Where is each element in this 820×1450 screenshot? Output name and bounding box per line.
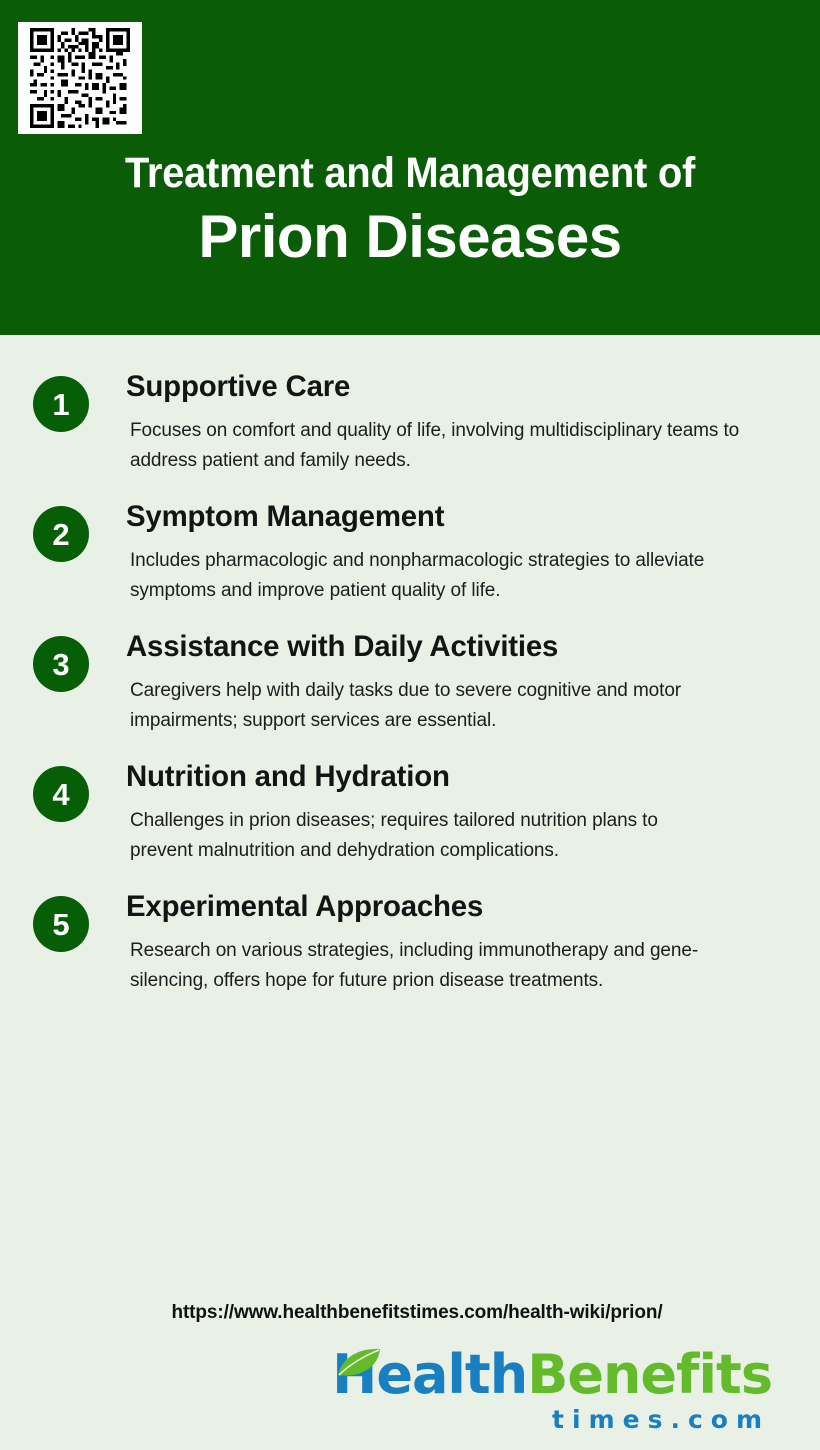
footer: https://www.healthbenefitstimes.com/heal… (0, 1302, 820, 1450)
list-item: 4 Nutrition and Hydration Challenges in … (0, 758, 820, 866)
step-number-badge: 5 (33, 896, 89, 952)
list-item-title: Supportive Care (126, 368, 767, 406)
list-item: 1 Supportive Care Focuses on comfort and… (0, 368, 820, 476)
logo-wordmark: HealthBenefits (332, 1346, 772, 1404)
list-item-body: Symptom Management Includes pharmacologi… (126, 498, 780, 606)
list-item-title: Assistance with Daily Activities (126, 628, 767, 666)
list-item-description: Focuses on comfort and quality of life, … (130, 416, 770, 476)
steps-list: 1 Supportive Care Focuses on comfort and… (0, 335, 820, 996)
list-item: 3 Assistance with Daily Activities Careg… (0, 628, 820, 736)
qr-code-icon[interactable] (18, 22, 142, 134)
brand-logo[interactable]: HealthBenefits times.com (0, 1346, 820, 1450)
list-item-body: Nutrition and Hydration Challenges in pr… (126, 758, 780, 866)
step-number-badge: 1 (33, 376, 89, 432)
header-banner: Treatment and Management of Prion Diseas… (0, 0, 820, 335)
list-item-title: Symptom Management (126, 498, 767, 536)
logo-benefits-text: Benefits (527, 1343, 772, 1406)
qr-code-svg (24, 28, 136, 128)
step-number-badge: 2 (33, 506, 89, 562)
list-item-description: Includes pharmacologic and nonpharmacolo… (130, 546, 770, 606)
list-item: 2 Symptom Management Includes pharmacolo… (0, 498, 820, 606)
list-item-body: Supportive Care Focuses on comfort and q… (126, 368, 780, 476)
title-line-1: Treatment and Management of (29, 148, 792, 198)
list-item-body: Assistance with Daily Activities Caregiv… (126, 628, 780, 736)
step-number-badge: 3 (33, 636, 89, 692)
list-item-description: Caregivers help with daily tasks due to … (130, 676, 770, 736)
list-item-title: Experimental Approaches (126, 888, 767, 926)
page-title: Treatment and Management of Prion Diseas… (0, 148, 820, 272)
list-item-body: Experimental Approaches Research on vari… (126, 888, 780, 996)
list-item-title: Nutrition and Hydration (126, 758, 767, 796)
title-line-2: Prion Diseases (0, 202, 820, 272)
list-item-description: Research on various strategies, includin… (130, 936, 730, 996)
source-url[interactable]: https://www.healthbenefitstimes.com/heal… (0, 1302, 820, 1324)
list-item: 5 Experimental Approaches Research on va… (0, 888, 820, 996)
step-number-badge: 4 (33, 766, 89, 822)
logo-health-text: Health (332, 1343, 527, 1406)
list-item-description: Challenges in prion diseases; requires t… (130, 806, 720, 866)
logo-subtitle: times.com (0, 1404, 772, 1436)
